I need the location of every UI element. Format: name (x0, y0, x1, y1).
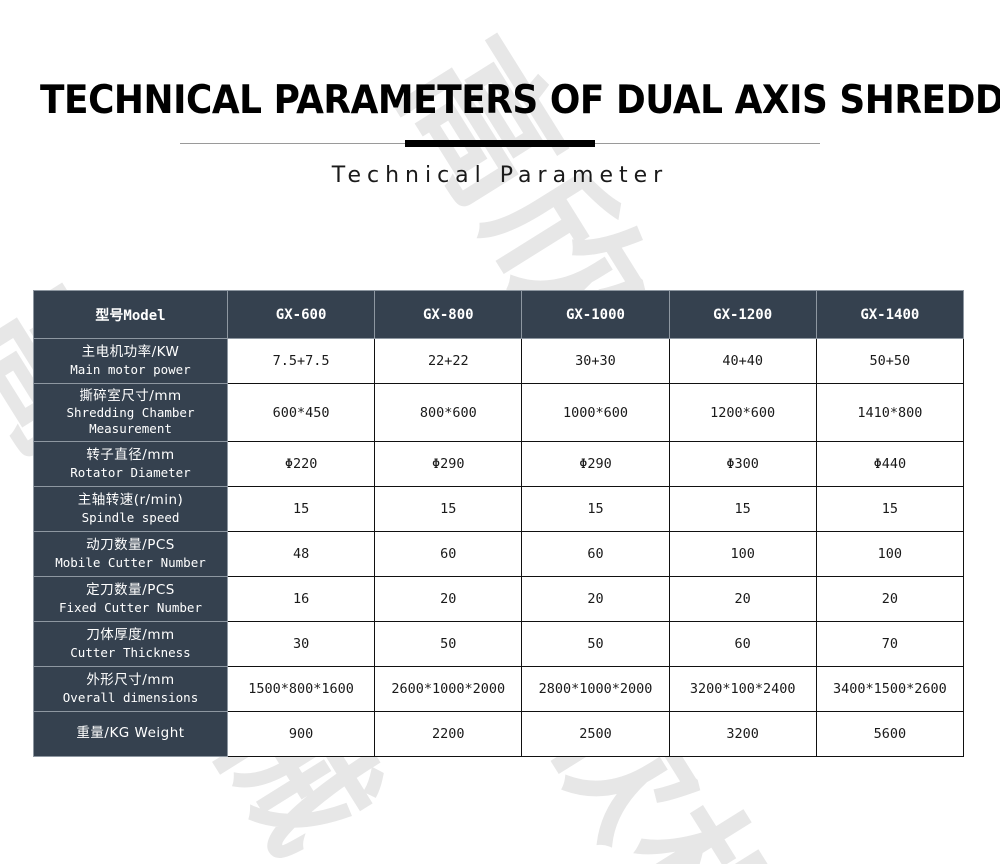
row-label-cn: 定刀数量/PCS (36, 582, 225, 599)
cell-value: 600*450 (228, 384, 375, 442)
cell-value: 15 (669, 487, 816, 532)
table-row: 撕碎室尺寸/mm Shredding Chamber Measurement 6… (34, 384, 964, 442)
row-label-mobile-cutter-number: 动刀数量/PCS Mobile Cutter Number (34, 532, 228, 577)
cell-value: 50+50 (816, 339, 963, 384)
page-title: TECHNICAL PARAMETERS OF DUAL AXIS SHREDD… (40, 78, 960, 123)
column-header-gx1400: GX-1400 (816, 291, 963, 339)
row-label-en: Main motor power (36, 362, 225, 378)
row-label-shredding-chamber: 撕碎室尺寸/mm Shredding Chamber Measurement (34, 384, 228, 442)
cell-value: 15 (522, 487, 669, 532)
row-label-cn: 转子直径/mm (36, 447, 225, 464)
technical-parameters-table: 型号Model GX-600 GX-800 GX-1000 GX-1200 GX… (33, 290, 964, 757)
cell-value: 7.5+7.5 (228, 339, 375, 384)
cell-value: 2600*1000*2000 (375, 667, 522, 712)
cell-value: 20 (669, 577, 816, 622)
cell-value: 60 (375, 532, 522, 577)
cell-value: Φ290 (522, 442, 669, 487)
row-label-en: Spindle speed (36, 510, 225, 526)
cell-value: 1410*800 (816, 384, 963, 442)
cell-value: 1200*600 (669, 384, 816, 442)
cell-value: 3200*100*2400 (669, 667, 816, 712)
table-row: 定刀数量/PCS Fixed Cutter Number 16 20 20 20… (34, 577, 964, 622)
header-block: TECHNICAL PARAMETERS OF DUAL AXIS SHREDD… (0, 0, 1000, 188)
row-label-rotator-diameter: 转子直径/mm Rotator Diameter (34, 442, 228, 487)
title-divider (180, 139, 820, 149)
row-label-fixed-cutter-number: 定刀数量/PCS Fixed Cutter Number (34, 577, 228, 622)
row-label-cn: 主轴转速(r/min) (36, 492, 225, 509)
row-label-cn: 撕碎室尺寸/mm (36, 388, 225, 405)
cell-value: 900 (228, 712, 375, 757)
cell-value: 2500 (522, 712, 669, 757)
row-label-en: Shredding Chamber (36, 405, 225, 421)
row-label-spindle-speed: 主轴转速(r/min) Spindle speed (34, 487, 228, 532)
cell-value: 20 (522, 577, 669, 622)
column-header-gx800: GX-800 (375, 291, 522, 339)
row-label-en: Overall dimensions (36, 690, 225, 706)
cell-value: 70 (816, 622, 963, 667)
cell-value: 3400*1500*2600 (816, 667, 963, 712)
cell-value: 48 (228, 532, 375, 577)
cell-value: 3200 (669, 712, 816, 757)
row-label-en: Rotator Diameter (36, 465, 225, 481)
table-header-row: 型号Model GX-600 GX-800 GX-1000 GX-1200 GX… (34, 291, 964, 339)
cell-value: 20 (375, 577, 522, 622)
row-label-cn: 动刀数量/PCS (36, 537, 225, 554)
page-subtitle: Technical Parameter (0, 163, 1000, 188)
column-header-gx600: GX-600 (228, 291, 375, 339)
table-row: 主轴转速(r/min) Spindle speed 15 15 15 15 15 (34, 487, 964, 532)
row-label-cn: 重量/KG Weight (36, 725, 225, 742)
cell-value: 800*600 (375, 384, 522, 442)
row-label-en2: Measurement (36, 421, 225, 437)
table-row: 动刀数量/PCS Mobile Cutter Number 48 60 60 1… (34, 532, 964, 577)
cell-value: 15 (375, 487, 522, 532)
cell-value: Φ440 (816, 442, 963, 487)
cell-value: 2200 (375, 712, 522, 757)
cell-value: 50 (522, 622, 669, 667)
column-header-gx1200: GX-1200 (669, 291, 816, 339)
cell-value: 2800*1000*2000 (522, 667, 669, 712)
row-label-main-motor-power: 主电机功率/KW Main motor power (34, 339, 228, 384)
row-label-en: Mobile Cutter Number (36, 555, 225, 571)
table-row: 转子直径/mm Rotator Diameter Φ220 Φ290 Φ290 … (34, 442, 964, 487)
column-header-model: 型号Model (34, 291, 228, 339)
row-label-cutter-thickness: 刀体厚度/mm Cutter Thickness (34, 622, 228, 667)
cell-value: Φ220 (228, 442, 375, 487)
cell-value: 30+30 (522, 339, 669, 384)
cell-value: 40+40 (669, 339, 816, 384)
cell-value: 50 (375, 622, 522, 667)
table-row: 外形尺寸/mm Overall dimensions 1500*800*1600… (34, 667, 964, 712)
row-label-en: Cutter Thickness (36, 645, 225, 661)
cell-value: 1500*800*1600 (228, 667, 375, 712)
row-label-overall-dimensions: 外形尺寸/mm Overall dimensions (34, 667, 228, 712)
row-label-en: Fixed Cutter Number (36, 600, 225, 616)
cell-value: 15 (816, 487, 963, 532)
cell-value: 5600 (816, 712, 963, 757)
cell-value: 60 (669, 622, 816, 667)
spec-table-container: 型号Model GX-600 GX-800 GX-1000 GX-1200 GX… (33, 290, 963, 757)
row-label-cn: 刀体厚度/mm (36, 627, 225, 644)
cell-value: 60 (522, 532, 669, 577)
cell-value: 15 (228, 487, 375, 532)
row-label-cn: 外形尺寸/mm (36, 672, 225, 689)
cell-value: 20 (816, 577, 963, 622)
table-row: 主电机功率/KW Main motor power 7.5+7.5 22+22 … (34, 339, 964, 384)
row-label-cn: 主电机功率/KW (36, 344, 225, 361)
cell-value: 30 (228, 622, 375, 667)
cell-value: 1000*600 (522, 384, 669, 442)
divider-accent-bar (405, 140, 595, 147)
row-label-weight: 重量/KG Weight (34, 712, 228, 757)
cell-value: 22+22 (375, 339, 522, 384)
cell-value: 16 (228, 577, 375, 622)
cell-value: 100 (669, 532, 816, 577)
spec-sheet-page: 高欣机械 高欣机械 高欣机械 TECHNICAL PARAMETERS OF D… (0, 0, 1000, 864)
cell-value: Φ300 (669, 442, 816, 487)
cell-value: 100 (816, 532, 963, 577)
table-row: 刀体厚度/mm Cutter Thickness 30 50 50 60 70 (34, 622, 964, 667)
column-header-gx1000: GX-1000 (522, 291, 669, 339)
table-row: 重量/KG Weight 900 2200 2500 3200 5600 (34, 712, 964, 757)
cell-value: Φ290 (375, 442, 522, 487)
